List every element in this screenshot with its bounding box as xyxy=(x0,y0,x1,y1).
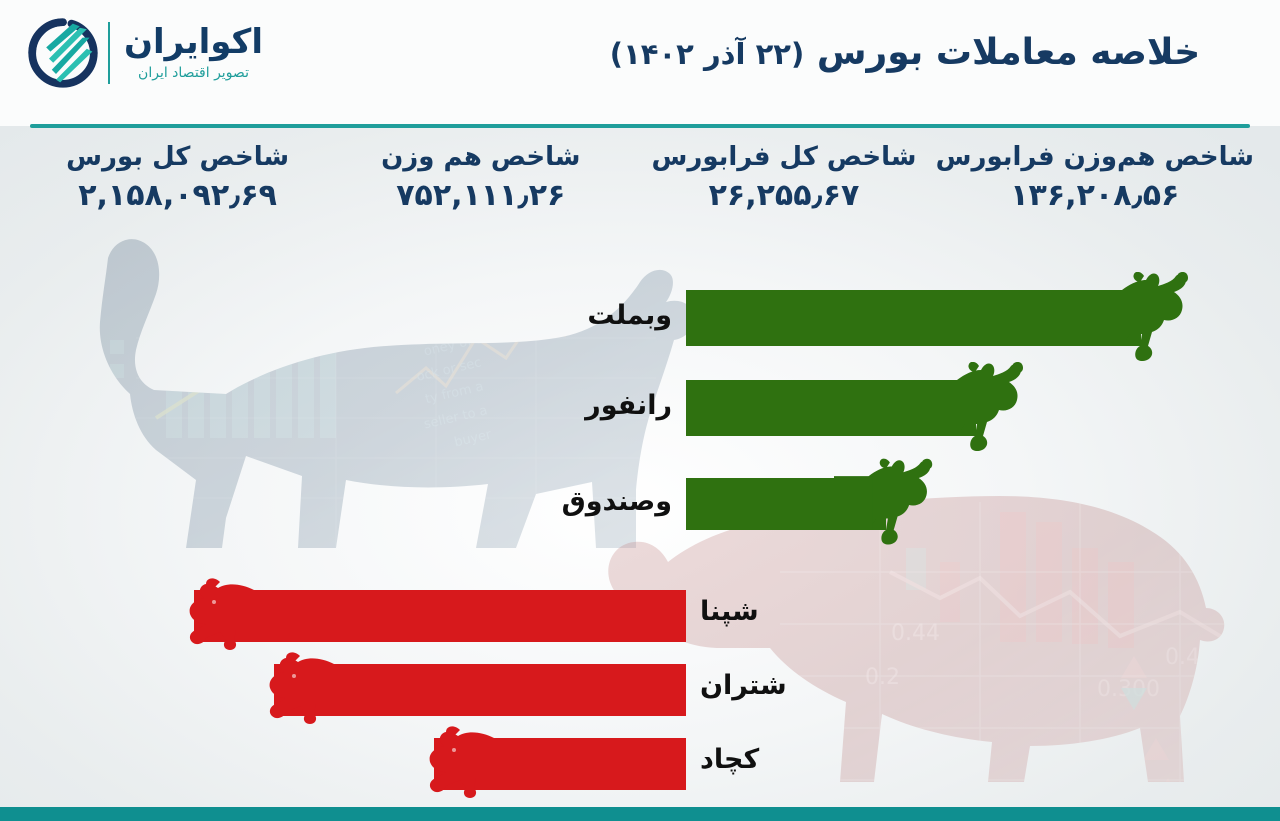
index-card-kol-boors: شاخص کل بورس ۲,۱۵۸,۰۹۲٫۶۹ xyxy=(26,142,329,234)
bar-label-negative: شپنا xyxy=(700,598,820,625)
brand-tagline: تصویر اقتصاد ایران xyxy=(138,65,249,81)
bar-label-negative: کچاد xyxy=(700,746,820,773)
bar-positive[interactable] xyxy=(686,290,1141,346)
footer-accent-bar xyxy=(0,807,1280,821)
infographic-canvas: risk markets mea e transfer oney of a oc… xyxy=(0,0,1280,821)
bar-negative[interactable] xyxy=(434,738,686,790)
bar-label-positive: وبملت xyxy=(560,302,672,329)
page-header: اکوایران تصویر اقتصاد ایران خلاصه معاملا… xyxy=(0,0,1280,126)
bar-label-positive: وصندوق xyxy=(548,488,672,515)
chart-row-negative-2: شتران xyxy=(0,660,1280,716)
index-summary-row: شاخص هم‌وزن فرابورس ۱۳۶,۲۰۸٫۵۶ شاخص کل ف… xyxy=(0,142,1280,234)
chart-row-positive-2: رانفور xyxy=(0,376,1280,436)
brand-wordmark: اکوایران تصویر اقتصاد ایران xyxy=(108,22,263,84)
index-value: ۱۳۶,۲۰۸٫۵۶ xyxy=(936,177,1254,215)
chart-row-positive-3: وصندوق xyxy=(0,474,1280,530)
index-card-hamvazn: شاخص هم وزن ۷۵۲,۱۱۱٫۲۶ xyxy=(329,142,632,234)
header-divider xyxy=(30,124,1250,128)
index-label: شاخص هم وزن xyxy=(329,142,632,173)
bar-positive[interactable] xyxy=(686,478,886,530)
index-value: ۲۶,۲۵۵٫۶۷ xyxy=(632,177,935,215)
eco-iran-circular-stripes-logo-icon xyxy=(28,18,98,88)
brand-logo[interactable]: اکوایران تصویر اقتصاد ایران xyxy=(28,18,263,88)
bar-negative[interactable] xyxy=(274,664,686,716)
bar-negative[interactable] xyxy=(194,590,686,642)
impact-bar-chart: وبملت رانفور وصندوق xyxy=(0,250,1280,810)
index-value: ۲,۱۵۸,۰۹۲٫۶۹ xyxy=(26,177,329,215)
index-value: ۷۵۲,۱۱۱٫۲۶ xyxy=(329,177,632,215)
index-card-kol-faraboors: شاخص کل فرابورس ۲۶,۲۵۵٫۶۷ xyxy=(632,142,935,234)
bar-positive[interactable] xyxy=(686,380,976,436)
chart-row-positive-1: وبملت xyxy=(0,286,1280,346)
page-title: خلاصه معاملات بورس (۲۲ آذر ۱۴۰۲) xyxy=(560,30,1250,75)
index-card-hamvazn-faraboors: شاخص هم‌وزن فرابورس ۱۳۶,۲۰۸٫۵۶ xyxy=(936,142,1254,234)
bar-label-negative: شتران xyxy=(700,672,830,699)
brand-name: اکوایران xyxy=(124,25,263,61)
index-label: شاخص کل فرابورس xyxy=(632,142,935,173)
bar-label-positive: رانفور xyxy=(560,392,672,419)
chart-row-negative-3: کچاد xyxy=(0,734,1280,790)
index-label: شاخص هم‌وزن فرابورس xyxy=(936,142,1254,173)
chart-row-negative-1: شپنا xyxy=(0,586,1280,642)
page-title-date: (۲۲ آذر ۱۴۰۲) xyxy=(610,37,804,71)
page-title-main: خلاصه معاملات بورس xyxy=(817,32,1200,73)
index-label: شاخص کل بورس xyxy=(26,142,329,173)
